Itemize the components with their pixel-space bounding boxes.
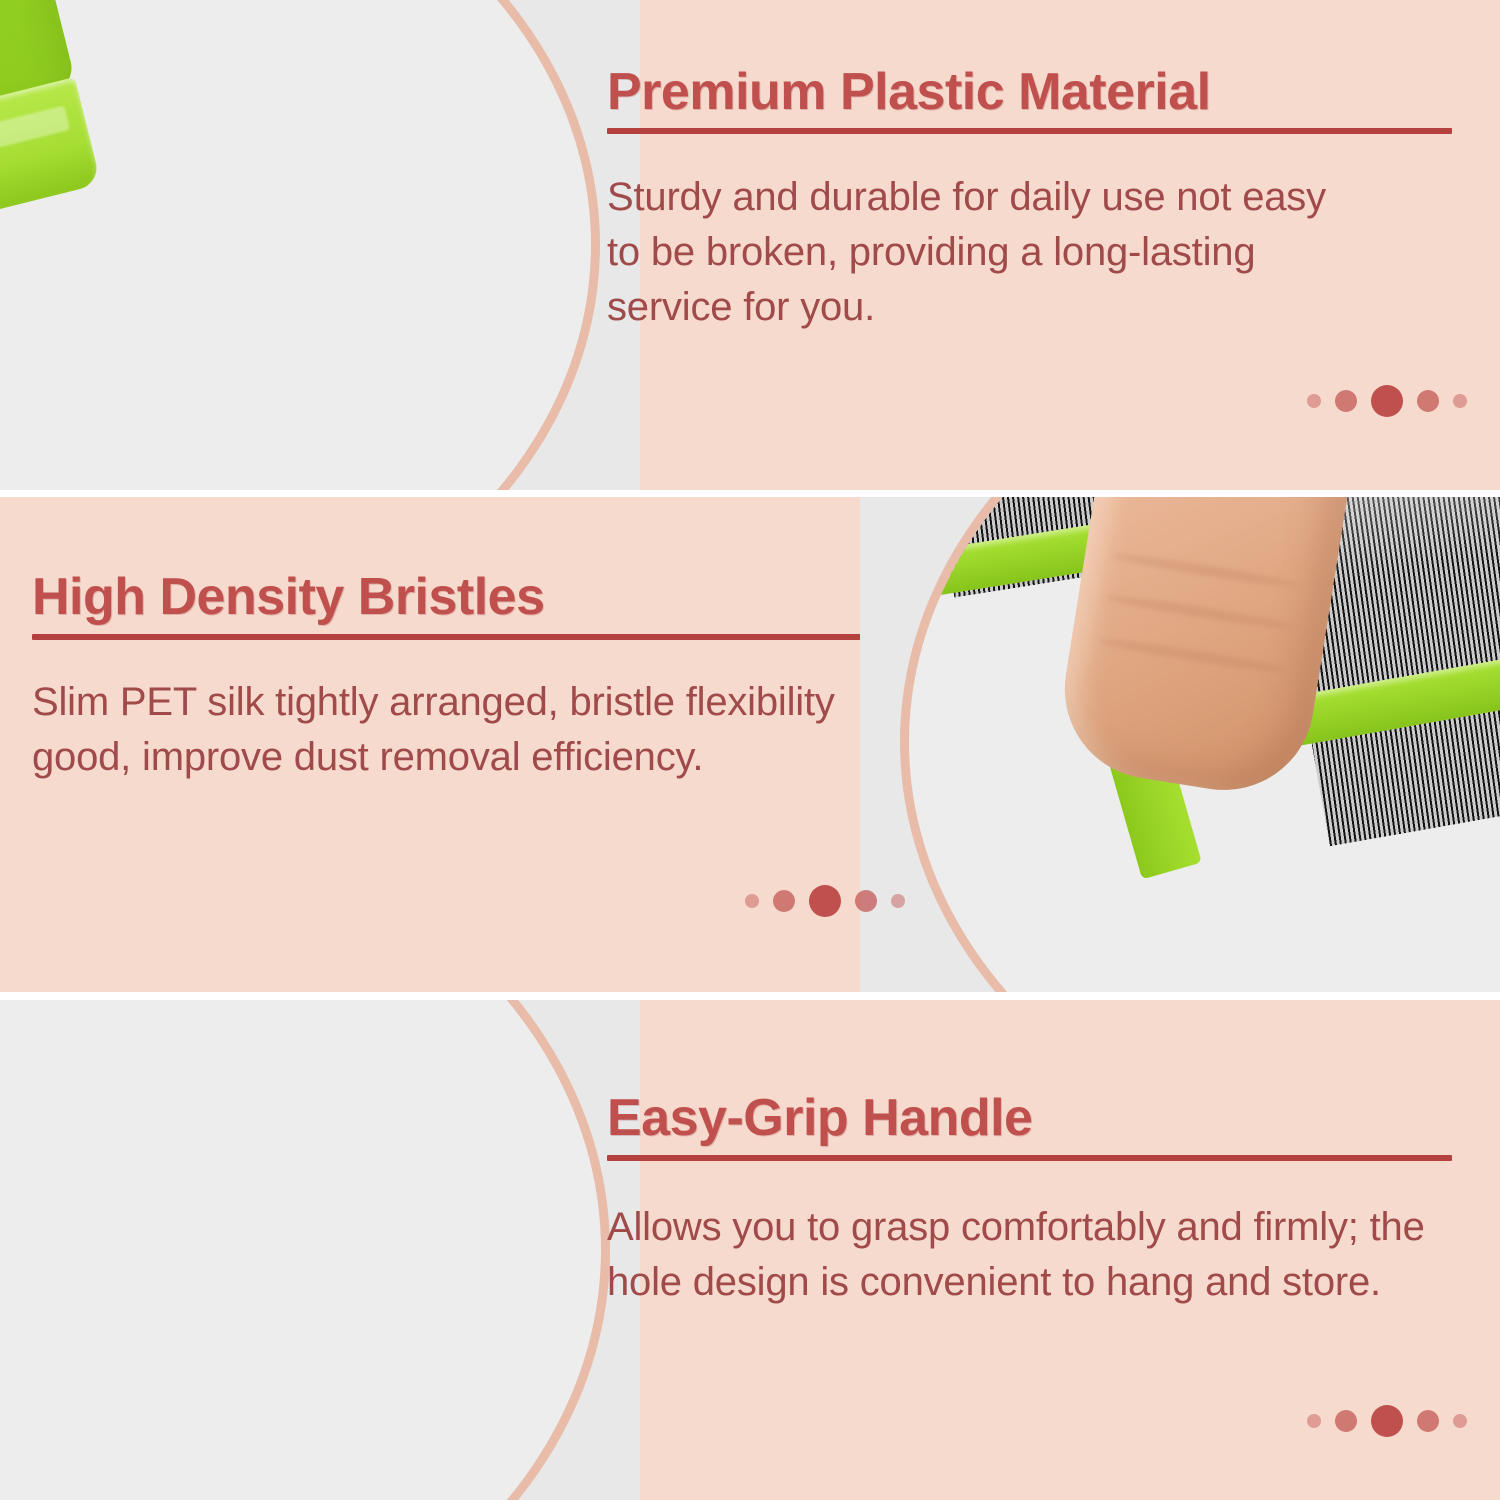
dustpan-illustration	[0, 0, 101, 319]
feature-heading: Easy-Grip Handle	[607, 1088, 1032, 1148]
heading-underline	[607, 1155, 1452, 1161]
feature-panel-high-density-bristles: High Density Bristles Slim PET silk tigh…	[0, 497, 1500, 992]
feature-description: Allows you to grasp comfortably and firm…	[607, 1200, 1437, 1310]
ornament-dot-small-left	[1307, 1414, 1321, 1428]
photo-content	[0, 0, 591, 490]
knuckle-crease-upper	[1110, 551, 1299, 591]
feature-panel-premium-plastic-material: Premium Plastic Material Sturdy and dura…	[0, 0, 1500, 490]
ornament-dot-medium-right	[1417, 390, 1439, 412]
feature-description: Slim PET silk tightly arranged, bristle …	[32, 675, 852, 785]
knuckle-crease-lower	[1097, 636, 1286, 676]
ornament-dot-medium-right	[855, 890, 877, 912]
ornament-dot-small-right	[1453, 1414, 1467, 1428]
photo-content	[909, 497, 1500, 992]
brush-illustration	[909, 497, 1500, 992]
dot-ornament	[1307, 385, 1467, 417]
ornament-dot-small-left	[1307, 394, 1321, 408]
infographic-page: Premium Plastic Material Sturdy and dura…	[0, 0, 1500, 1500]
ornament-dot-medium-left	[773, 890, 795, 912]
feature-panel-easy-grip-handle: Easy-Grip Handle Allows you to grasp com…	[0, 1000, 1500, 1500]
feature-heading: Premium Plastic Material	[607, 62, 1211, 122]
ornament-dot-large-center	[1371, 385, 1403, 417]
ornament-dot-large-center	[1371, 1405, 1403, 1437]
ornament-dot-small-left	[745, 894, 759, 908]
dot-ornament	[1307, 1405, 1467, 1437]
circle-photo-frame	[0, 1000, 610, 1500]
ornament-dot-medium-right	[1417, 1410, 1439, 1432]
ornament-dot-medium-left	[1335, 1410, 1357, 1432]
ornament-dot-medium-left	[1335, 390, 1357, 412]
circle-photo-frame	[900, 497, 1500, 992]
ornament-dot-small-right	[891, 894, 905, 908]
feature-text-block: High Density Bristles Slim PET silk tigh…	[22, 497, 922, 992]
product-photo-dustpan	[0, 0, 640, 490]
product-photo-bristle-brush	[860, 497, 1500, 992]
feature-heading: High Density Bristles	[32, 567, 545, 627]
circle-photo-frame	[0, 0, 600, 490]
product-photo-handle	[0, 1000, 640, 1500]
knuckle-crease-mid	[1104, 592, 1293, 632]
heading-underline	[607, 128, 1452, 134]
dot-ornament	[745, 885, 905, 917]
ornament-dot-large-center	[809, 885, 841, 917]
heading-underline	[32, 634, 877, 640]
feature-description: Sturdy and durable for daily use not eas…	[607, 170, 1367, 335]
photo-content	[0, 1000, 601, 1500]
ornament-dot-small-right	[1453, 394, 1467, 408]
